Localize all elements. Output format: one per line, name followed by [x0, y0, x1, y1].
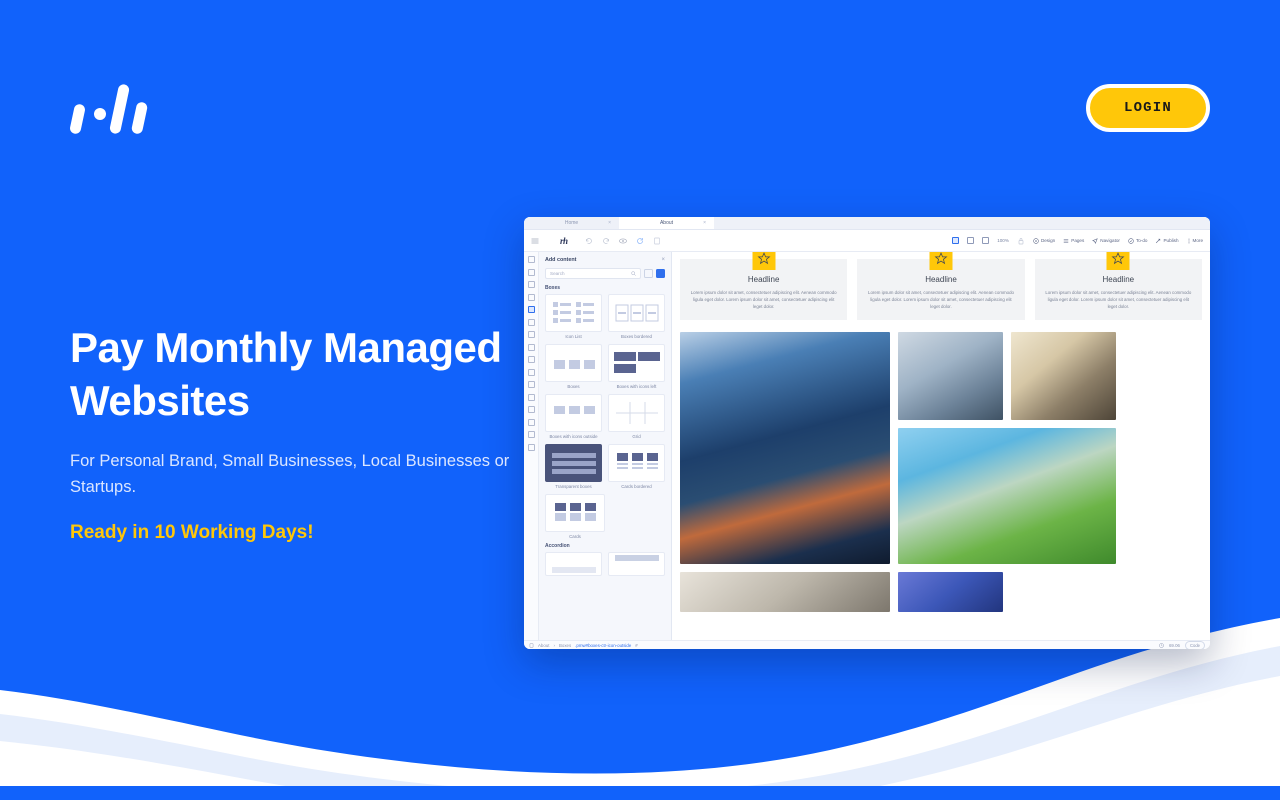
- rail-item-settings-icon[interactable]: [528, 269, 535, 276]
- clock-icon: [1159, 643, 1164, 648]
- tab-about-label: About: [660, 220, 673, 226]
- star-badge: [929, 252, 952, 270]
- app-mockup: Home × About × rh 100% Design: [524, 217, 1210, 649]
- navigator-icon: [1092, 238, 1098, 244]
- panel-item-boxes[interactable]: Boxes: [545, 344, 602, 389]
- redo-icon[interactable]: [602, 237, 610, 245]
- panel-section-boxes-label: Boxes: [545, 285, 665, 291]
- panel-item-boxes-icons-left[interactable]: Boxes with icons left: [608, 344, 665, 389]
- search-icon: [631, 271, 636, 276]
- rh-logo[interactable]: [70, 82, 150, 138]
- todo-icon: [1128, 238, 1134, 244]
- lock-icon[interactable]: [1017, 237, 1025, 245]
- editor-canvas: Headline Lorem ipsum dolor sit amet, con…: [672, 252, 1210, 640]
- file-icon: [529, 643, 534, 648]
- headline-card[interactable]: Headline Lorem ipsum dolor sit amet, con…: [857, 259, 1024, 320]
- close-icon[interactable]: ×: [608, 220, 611, 226]
- panel-item-cards-bordered[interactable]: Cards bordered: [608, 444, 665, 489]
- breadcrumb-section[interactable]: Boxes: [559, 643, 571, 648]
- status-bar: About › Boxes .pmw#boxes-ctr-icon-outsid…: [524, 640, 1210, 649]
- more-icon: [1187, 238, 1191, 244]
- tab-home[interactable]: Home ×: [524, 217, 619, 229]
- accordion-thumb-1[interactable]: [545, 552, 602, 576]
- thumb-preview: [545, 394, 602, 432]
- rail-item-columns-icon[interactable]: [528, 294, 535, 301]
- pages-icon: [1063, 238, 1069, 244]
- thumb-preview: [545, 494, 605, 532]
- panel-accordion-grid: [545, 552, 665, 576]
- card-body: Lorem ipsum dolor sit amet, consectetuer…: [690, 289, 837, 310]
- search-input[interactable]: Search: [545, 268, 641, 279]
- card-headline: Headline: [1045, 275, 1192, 284]
- view-list-button[interactable]: [644, 269, 653, 278]
- login-button[interactable]: LOGIN: [1086, 84, 1210, 132]
- device-desktop-icon[interactable]: [952, 237, 959, 244]
- palette-icon: [1033, 238, 1039, 244]
- thumb-preview: [608, 294, 665, 332]
- menu-icon[interactable]: [531, 237, 539, 245]
- rail-item-content-icon[interactable]: [528, 306, 535, 313]
- headline-card[interactable]: Headline Lorem ipsum dolor sit amet, con…: [1035, 259, 1202, 320]
- card-headline: Headline: [690, 275, 837, 284]
- code-button[interactable]: Code: [1185, 641, 1205, 649]
- headline-cards: Headline Lorem ipsum dolor sit amet, con…: [680, 259, 1202, 320]
- toolbar-todo-label: To-do: [1136, 238, 1148, 243]
- panel-item-grid[interactable]: Grid: [608, 394, 665, 439]
- panel-thumb-grid: Icon List Boxes bordered Boxes: [545, 294, 665, 489]
- page-icon[interactable]: [653, 237, 661, 245]
- toolbar-pages[interactable]: Pages: [1063, 238, 1084, 244]
- panel-item-icon-list[interactable]: Icon List: [545, 294, 602, 339]
- tab-strip-filler: [714, 217, 1210, 229]
- toolbar-navigator[interactable]: Navigator: [1092, 238, 1120, 244]
- panel-search-row: Search: [545, 268, 665, 279]
- thumb-preview: [545, 444, 602, 482]
- toolbar-more-label: More: [1193, 238, 1203, 243]
- undo-icon[interactable]: [585, 237, 593, 245]
- star-badge: [752, 252, 775, 270]
- panel-item-label: Boxes bordered: [608, 334, 665, 339]
- search-placeholder: Search: [550, 271, 565, 276]
- view-grid-button[interactable]: [656, 269, 665, 278]
- breadcrumb-hash[interactable]: #: [635, 643, 637, 648]
- editor-logo: rh: [560, 236, 568, 246]
- star-icon: [757, 252, 770, 265]
- panel-header: Add content ×: [545, 257, 665, 263]
- gallery-photo-green-building[interactable]: [898, 428, 1116, 564]
- star-icon: [934, 252, 947, 265]
- tab-strip: Home × About ×: [524, 217, 1210, 230]
- gallery-photo-night-tower[interactable]: [898, 572, 1003, 612]
- toolbar-publish[interactable]: Publish: [1155, 238, 1178, 244]
- gallery-photo-facade[interactable]: [898, 332, 1003, 420]
- refresh-icon[interactable]: [636, 237, 644, 245]
- toolbar-pages-label: Pages: [1071, 238, 1084, 243]
- tab-home-label: Home: [565, 220, 578, 226]
- panel-item-label: Icon List: [545, 334, 602, 339]
- panel-section-accordion-label: Accordion: [545, 543, 665, 549]
- add-content-panel: Add content × Search Boxes Icon List: [539, 252, 672, 640]
- toolbar-navigator-label: Navigator: [1100, 238, 1120, 243]
- panel-item-label: Boxes with icons left: [608, 384, 665, 389]
- breadcrumb-page[interactable]: About: [538, 643, 549, 648]
- thumb-preview: [545, 294, 602, 332]
- card-headline: Headline: [867, 275, 1014, 284]
- device-tablet-icon[interactable]: [967, 237, 974, 244]
- gallery-photo-interior[interactable]: [680, 572, 890, 612]
- page-size-value: 69.06: [1169, 643, 1180, 648]
- star-icon: [1112, 252, 1125, 265]
- thumb-preview: [545, 344, 602, 382]
- image-gallery: [680, 332, 1202, 612]
- code-button-label: Code: [1190, 643, 1200, 648]
- panel-item-transparent-boxes[interactable]: Transparent boxes: [545, 444, 602, 489]
- page-title: Pay Monthly Managed Websites: [70, 322, 540, 427]
- page-header: LOGIN: [0, 0, 1280, 200]
- thumb-preview: [608, 394, 665, 432]
- panel-item-label: Boxes: [545, 384, 602, 389]
- hero-subtitle: For Personal Brand, Small Businesses, Lo…: [70, 449, 540, 500]
- tab-about[interactable]: About ×: [619, 217, 714, 229]
- card-body: Lorem ipsum dolor sit amet, consectetuer…: [867, 289, 1014, 310]
- thumb-preview: [608, 444, 665, 482]
- accordion-thumb-2[interactable]: [608, 552, 665, 576]
- panel-item-label: Boxes with icons outside: [545, 434, 602, 439]
- panel-item-label: Transparent boxes: [545, 484, 602, 489]
- headline-card[interactable]: Headline Lorem ipsum dolor sit amet, con…: [680, 259, 847, 320]
- panel-item-boxes-bordered[interactable]: Boxes bordered: [608, 294, 665, 339]
- panel-item-label: Cards: [545, 534, 605, 539]
- panel-item-label: Grid: [608, 434, 665, 439]
- rail-item-file-icon[interactable]: [528, 281, 535, 288]
- panel-title: Add content: [545, 257, 576, 263]
- breadcrumb-separator: ›: [553, 643, 554, 648]
- bottom-accent-bar: [0, 786, 1280, 800]
- star-badge: [1107, 252, 1130, 270]
- gallery-photo-skyscrapers[interactable]: [680, 332, 890, 564]
- hero-cta-text: Ready in 10 Working Days!: [70, 522, 540, 544]
- publish-icon: [1155, 238, 1161, 244]
- toolbar-design-label: Design: [1041, 238, 1055, 243]
- toolbar-design[interactable]: Design: [1033, 238, 1055, 244]
- close-icon[interactable]: ×: [661, 257, 665, 263]
- editor-body: Add content × Search Boxes Icon List: [524, 252, 1210, 640]
- thumb-preview: [608, 344, 665, 382]
- toolbar-todo[interactable]: To-do: [1128, 238, 1148, 244]
- card-body: Lorem ipsum dolor sit amet, consectetuer…: [1045, 289, 1192, 310]
- close-icon[interactable]: ×: [703, 220, 706, 226]
- editor-toolbar: rh 100% Design Pages Navigator: [524, 230, 1210, 252]
- gallery-photo-boardroom[interactable]: [1011, 332, 1116, 420]
- preview-eye-icon[interactable]: [619, 237, 627, 245]
- hero-section: Pay Monthly Managed Websites For Persona…: [70, 322, 540, 544]
- panel-item-boxes-icons-outside[interactable]: Boxes with icons outside: [545, 394, 602, 439]
- toolbar-publish-label: Publish: [1163, 238, 1178, 243]
- panel-item-label: Cards bordered: [608, 484, 665, 489]
- rail-item-home-icon[interactable]: [528, 256, 535, 263]
- device-mobile-icon[interactable]: [982, 237, 989, 244]
- breadcrumb-selector[interactable]: .pmw#boxes-ctr-icon-outside: [575, 643, 631, 648]
- zoom-level[interactable]: 100%: [997, 238, 1009, 243]
- toolbar-more[interactable]: More: [1187, 238, 1203, 244]
- panel-item-cards[interactable]: Cards: [545, 494, 665, 539]
